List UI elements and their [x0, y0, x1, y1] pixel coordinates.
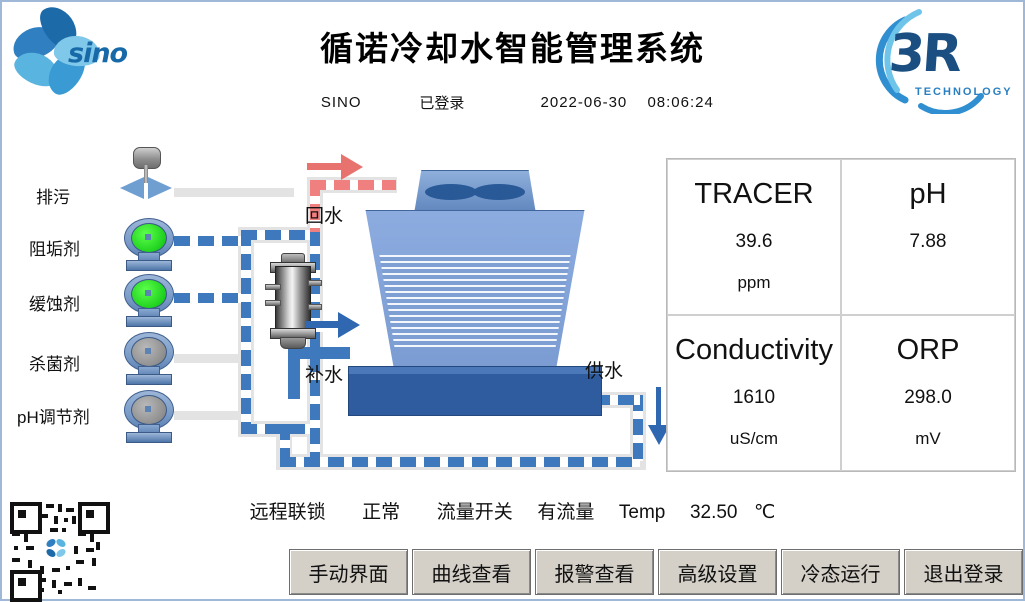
3r-logo-subtext: TECHNOLOGY	[915, 86, 1013, 98]
pump-base-icon	[126, 316, 172, 327]
trend-view-button[interactable]: 曲线查看	[412, 549, 531, 595]
label-supply-water: 供水	[585, 356, 623, 383]
blowdown-valve[interactable]	[118, 147, 174, 199]
qr-code	[10, 502, 102, 594]
measurement-name: ORP	[897, 334, 960, 367]
label-return-water: 回水	[305, 201, 343, 228]
measurement-name: TRACER	[694, 178, 813, 211]
system-date: 2022-06-30	[541, 94, 628, 111]
user-name: SINO	[311, 94, 371, 111]
fan-blade-left-icon	[425, 184, 477, 200]
status-strip: 远程联锁 正常 流量开关 有流量 Temp 32.50 ℃	[2, 497, 1023, 524]
3r-technology-logo: 3R TECHNOLOGY	[863, 6, 1013, 114]
measurement-cell-orp[interactable]: ORP 298.0 mV	[841, 315, 1015, 471]
measurement-panel: TRACER 39.6 ppm pH 7.88 Conductivity 161…	[666, 158, 1016, 472]
3r-logo-text: 3R	[887, 24, 961, 84]
dosing-label-corrosion-inhibitor: 缓蚀剂	[29, 290, 80, 315]
manual-interface-button[interactable]: 手动界面	[289, 549, 408, 595]
measurement-cell-tracer[interactable]: TRACER 39.6 ppm	[667, 159, 841, 315]
flow-switch-value: 有流量	[537, 497, 594, 524]
hmi-screen: sino 循诺冷却水智能管理系统 SINO 已登录 2022-06-30 08:…	[0, 0, 1025, 601]
pump-base-icon	[126, 432, 172, 443]
dosing-label-ph-adjuster: pH调节剂	[17, 403, 90, 428]
measurement-unit: uS/cm	[730, 429, 778, 449]
cooling-tower	[334, 170, 614, 420]
dosing-label-antiscalant: 阻垢剂	[29, 235, 80, 260]
interlock-value: 正常	[362, 497, 400, 524]
flow-switch-label: 流量开关	[437, 497, 513, 524]
dosing-label-biocide: 杀菌剂	[29, 350, 80, 375]
pump-corrosion-inhibitor[interactable]	[120, 274, 176, 326]
fan-blade-right-icon	[473, 184, 525, 200]
measurement-value: 298.0	[904, 387, 952, 409]
measurement-value: 39.6	[736, 231, 773, 253]
temperature-value: 32.50	[690, 502, 738, 524]
cold-start-run-button[interactable]: 冷态运行	[781, 549, 900, 595]
label-makeup-water: 补水	[305, 360, 343, 387]
pipe-ph-adjuster	[174, 411, 248, 420]
pipe-blowdown	[174, 188, 294, 197]
pump-ph-adjuster[interactable]	[120, 390, 176, 442]
vessel-nozzle-left-upper-icon	[265, 284, 281, 290]
measurement-cell-conductivity[interactable]: Conductivity 1610 uS/cm	[667, 315, 841, 471]
valve-body-left-icon	[120, 177, 144, 199]
bottom-button-bar: 手动界面 曲线查看 报警查看 高级设置 冷态运行 退出登录	[289, 549, 1023, 595]
logout-button[interactable]: 退出登录	[904, 549, 1023, 595]
qr-center-logo	[42, 534, 70, 562]
pump-base-icon	[126, 260, 172, 271]
pump-hub-icon	[145, 406, 151, 412]
pipe-loop-dosing-bottom	[241, 424, 313, 434]
login-status: 已登录	[419, 92, 464, 113]
measurement-name: pH	[909, 178, 946, 211]
interlock-label: 远程联锁	[250, 497, 326, 524]
vessel-bottom-cone-icon	[280, 337, 306, 349]
vessel-nozzle-right-upper-icon	[308, 280, 322, 286]
tower-fan-deck	[414, 170, 536, 214]
pipe-loop-left-corner	[280, 424, 290, 460]
tower-basin	[348, 366, 602, 416]
pump-biocide[interactable]	[120, 332, 176, 384]
measurement-value: 1610	[733, 387, 775, 409]
temperature-label: Temp	[619, 502, 665, 524]
tower-fill-slats	[357, 255, 593, 349]
dosing-label-blowdown: 排污	[36, 183, 70, 208]
temperature-unit: ℃	[754, 501, 775, 524]
system-time: 08:06:24	[647, 94, 713, 111]
pipe-makeup-riser	[288, 347, 300, 399]
valve-body-right-icon	[148, 177, 172, 199]
tower-body	[356, 210, 594, 370]
measurement-unit: mV	[915, 429, 941, 449]
vessel-nozzle-left-lower-icon	[265, 300, 281, 306]
pipe-antiscalant-active	[174, 236, 244, 246]
vessel-nozzle-right-lower-icon	[308, 304, 322, 310]
measurement-cell-ph[interactable]: pH 7.88	[841, 159, 1015, 315]
pump-base-icon	[126, 374, 172, 385]
measurement-name: Conductivity	[675, 334, 833, 367]
alarm-view-button[interactable]: 报警查看	[535, 549, 654, 595]
pipe-corrosion-inhibitor-active	[174, 293, 244, 303]
pump-antiscalant[interactable]	[120, 218, 176, 270]
measurement-unit: ppm	[737, 273, 770, 293]
pipe-loop-bottom	[280, 457, 640, 467]
pump-hub-icon	[145, 348, 151, 354]
pump-hub-icon	[145, 290, 151, 296]
pipe-loop-dosing-top	[241, 230, 313, 240]
measurement-value: 7.88	[910, 231, 947, 253]
pipe-biocide	[174, 354, 248, 363]
pump-hub-icon	[145, 234, 151, 240]
advanced-settings-button[interactable]: 高级设置	[658, 549, 777, 595]
pipe-loop-dosing-riser	[241, 230, 251, 430]
